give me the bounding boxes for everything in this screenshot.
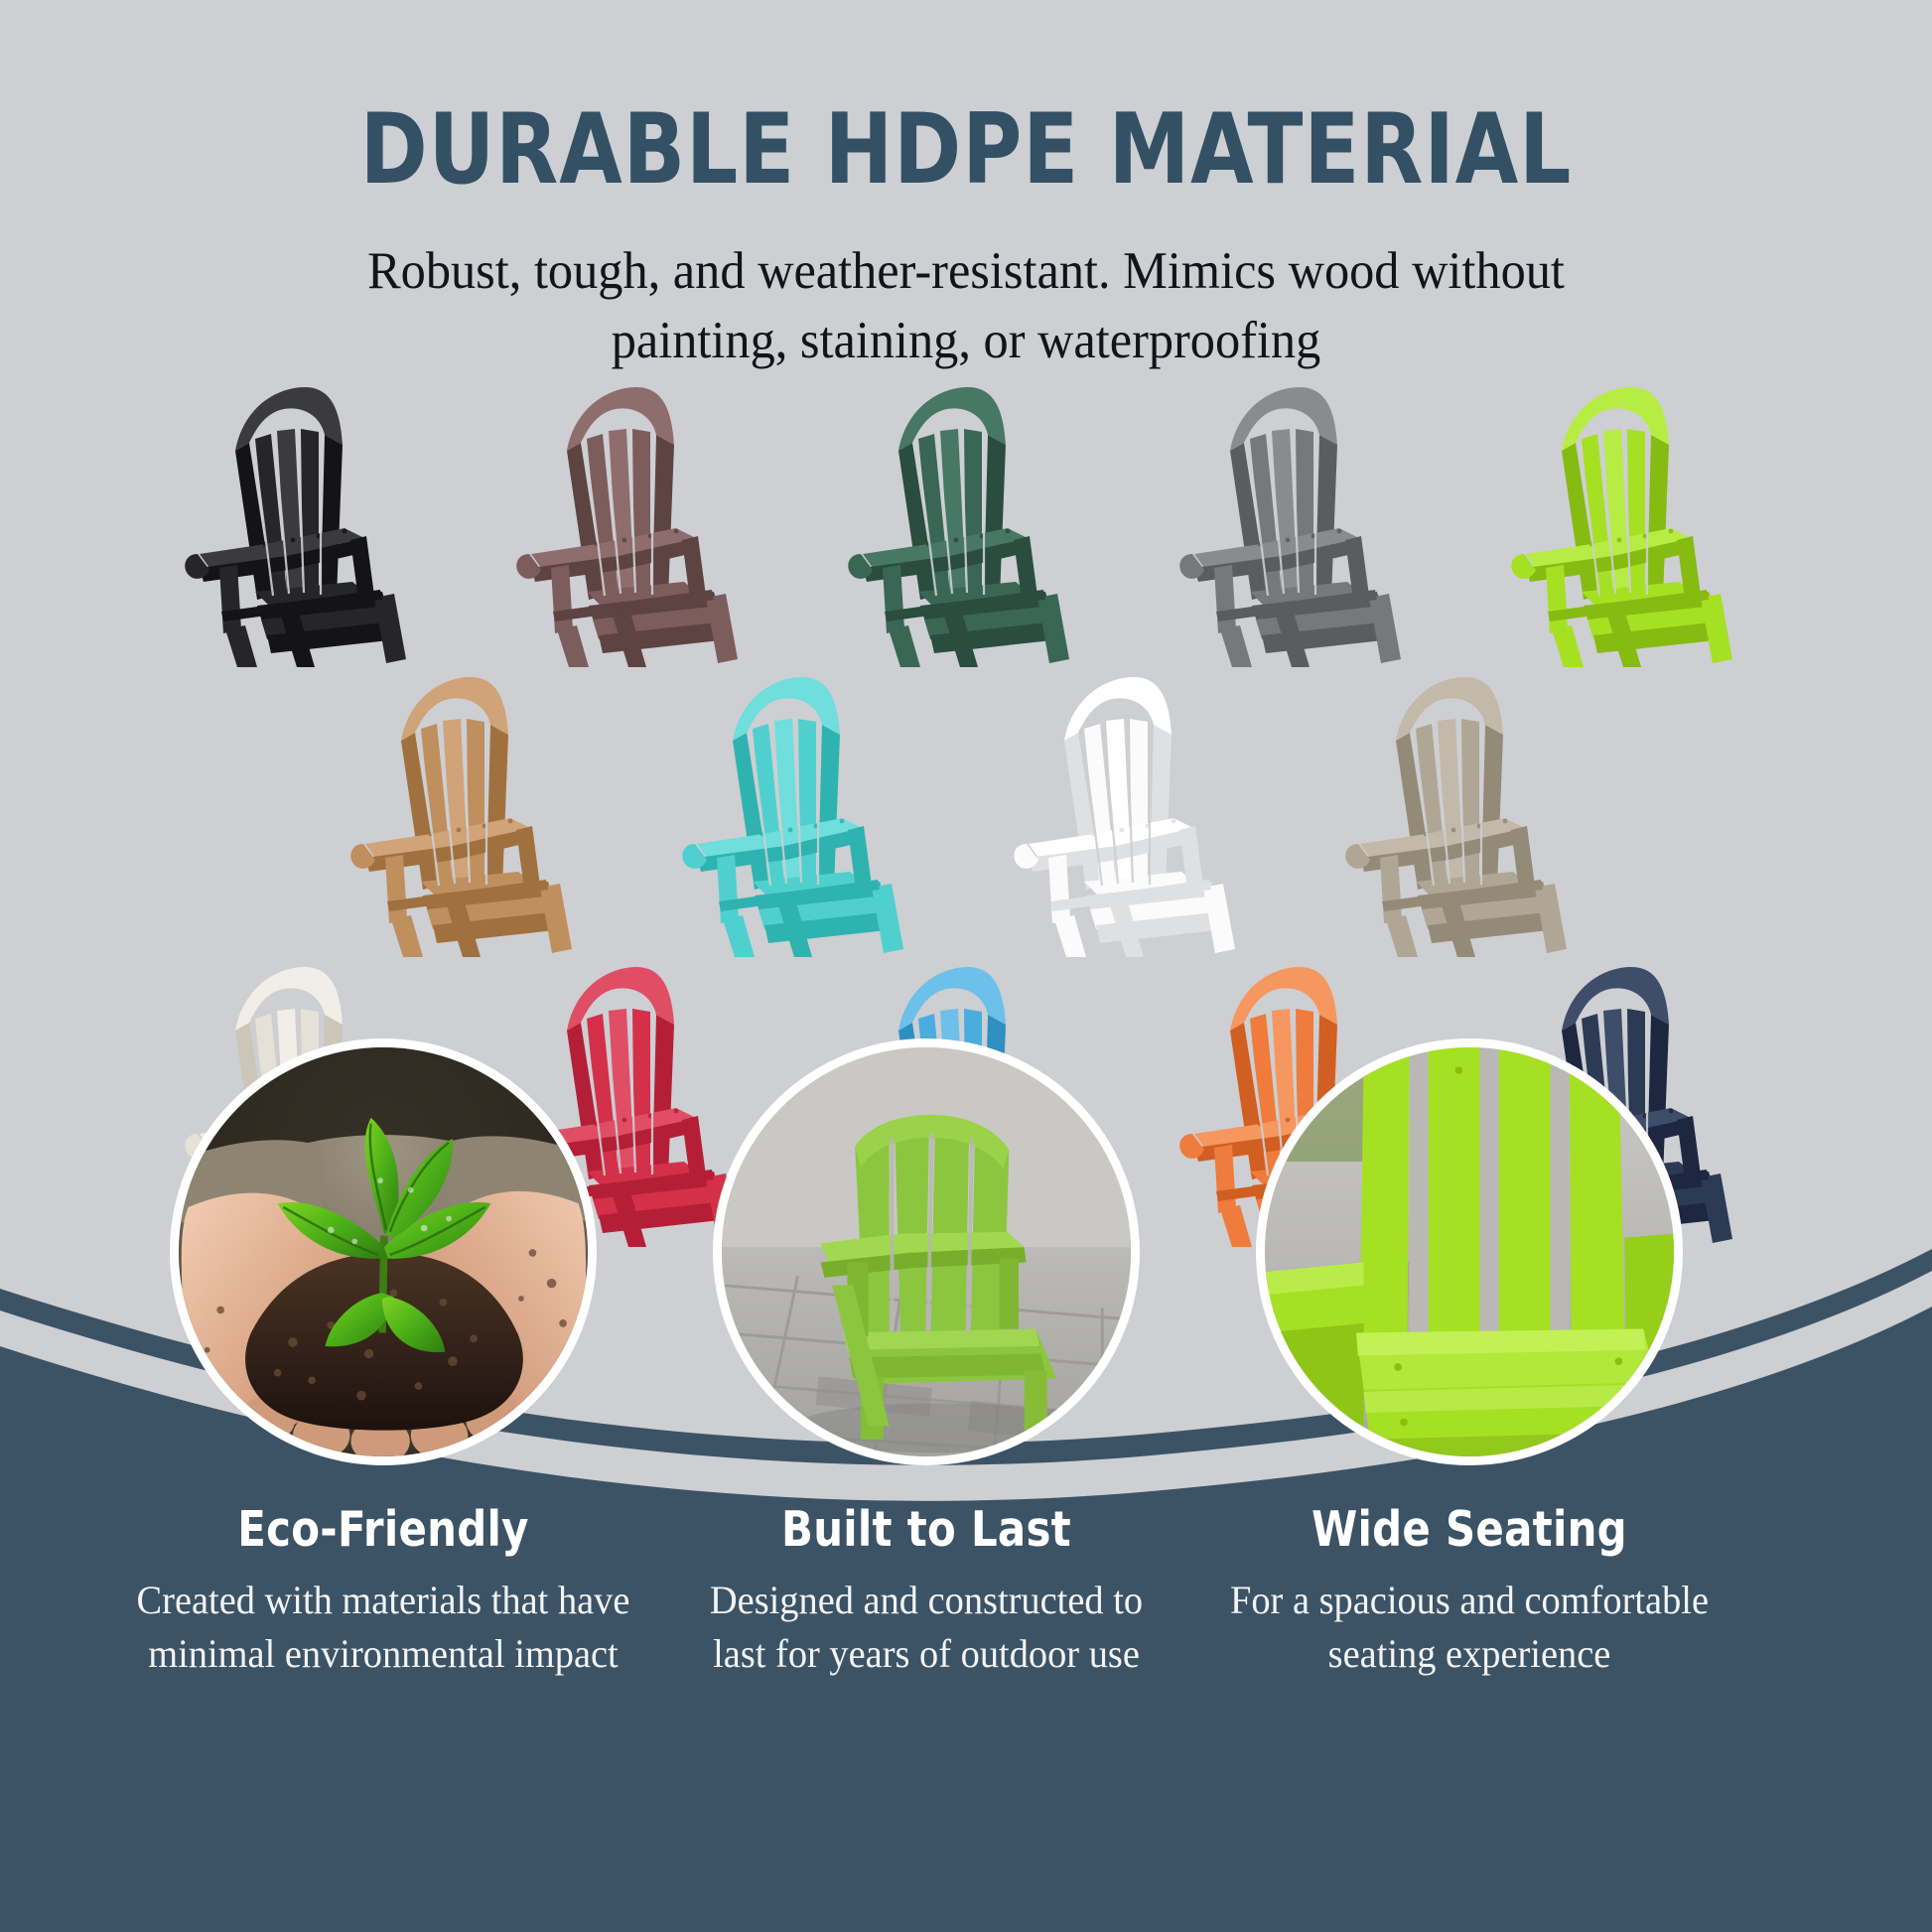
- subtitle-line-2: painting, staining, or waterproofing: [49, 307, 1884, 376]
- feature-description: Created with materials that have minimal…: [116, 1574, 650, 1681]
- chair-row-1: [0, 369, 1932, 667]
- chair-swatch-teak[interactable]: [336, 659, 602, 957]
- chair-swatch-brown[interactable]: [501, 369, 767, 667]
- chair-swatch-gray[interactable]: [1165, 369, 1431, 667]
- feature-built-to-last: Built to Last Designed and constructed t…: [648, 1038, 1204, 1681]
- feature-eco-friendly: Eco-Friendly Created with materials that…: [105, 1038, 661, 1681]
- feature-description: For a spacious and comfortable seating e…: [1202, 1574, 1736, 1681]
- infographic-canvas: DURABLE HDPE MATERIAL Robust, tough, and…: [0, 0, 1932, 1932]
- page-subtitle: Robust, tough, and weather-resistant. Mi…: [49, 237, 1884, 376]
- page-title: DURABLE HDPE MATERIAL: [68, 99, 1864, 202]
- chair-swatch-turquoise[interactable]: [667, 659, 933, 957]
- header: DURABLE HDPE MATERIAL Robust, tough, and…: [0, 0, 1932, 376]
- chair-swatch-black[interactable]: [170, 369, 436, 667]
- feature-desc-line-1: Designed and constructed to: [665, 1574, 1187, 1627]
- feature-wide-seating: Wide Seating For a spacious and comforta…: [1191, 1038, 1747, 1681]
- subtitle-line-1: Robust, tough, and weather-resistant. Mi…: [49, 237, 1884, 307]
- chair-swatch-dark-green[interactable]: [833, 369, 1099, 667]
- feature-title: Wide Seating: [1205, 1501, 1733, 1558]
- feature-description: Designed and constructed to last for yea…: [659, 1574, 1193, 1681]
- chair-swatch-lime-green[interactable]: [1496, 369, 1762, 667]
- feature-desc-line-2: last for years of outdoor use: [665, 1627, 1187, 1681]
- chair-row-2: [0, 659, 1932, 957]
- feature-desc-line-1: For a spacious and comfortable: [1208, 1574, 1730, 1627]
- feature-image-wide-seating: [1256, 1038, 1683, 1465]
- feature-image-eco-friendly: [170, 1038, 597, 1465]
- feature-title: Built to Last: [662, 1501, 1190, 1558]
- feature-desc-line-2: seating experience: [1208, 1627, 1730, 1681]
- feature-image-built-to-last: [713, 1038, 1140, 1465]
- feature-row: Eco-Friendly Created with materials that…: [0, 1197, 1932, 1932]
- chair-swatch-white[interactable]: [999, 659, 1265, 957]
- feature-desc-line-1: Created with materials that have: [122, 1574, 644, 1627]
- chair-swatch-taupe[interactable]: [1330, 659, 1596, 957]
- feature-desc-line-2: minimal environmental impact: [122, 1627, 644, 1681]
- feature-title: Eco-Friendly: [119, 1501, 647, 1558]
